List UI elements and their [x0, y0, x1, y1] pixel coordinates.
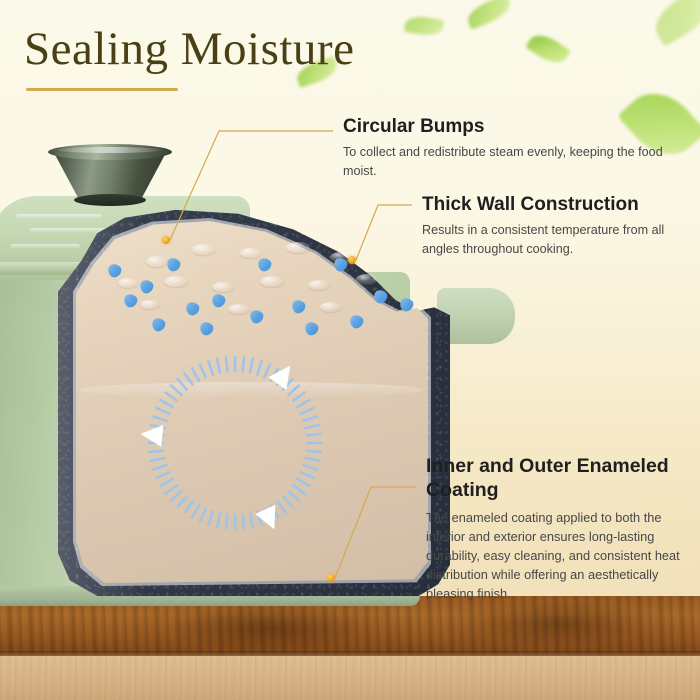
- ring-tick: [156, 408, 169, 414]
- callout-body: To collect and redistribute steam evenly…: [343, 143, 673, 180]
- ring-tick: [305, 458, 319, 461]
- ring-tick: [250, 359, 253, 373]
- ring-tick: [177, 379, 186, 389]
- leader-wall-dot: [348, 256, 356, 264]
- leaf-icon: [404, 14, 445, 38]
- infographic-canvas: Sealing Moisture Circular Bumps To colle…: [0, 0, 700, 700]
- ring-tick: [217, 513, 220, 527]
- leader-bumps-dot: [162, 236, 170, 244]
- callout-heading: Inner and Outer Enameled Coating: [426, 455, 691, 503]
- circular-bump: [260, 276, 284, 287]
- callout-heading: Circular Bumps: [343, 115, 673, 138]
- ring-tick: [226, 515, 227, 529]
- callout-body: The enameled coating applied to both the…: [426, 508, 691, 604]
- leaf-icon: [525, 29, 570, 70]
- ring-tick: [184, 373, 192, 384]
- ring-tick: [161, 479, 173, 486]
- leaf-icon: [648, 0, 700, 47]
- ring-tick: [200, 509, 206, 522]
- pot-lid-knob-highlight: [58, 147, 162, 153]
- ring-tick: [303, 416, 316, 420]
- ring-tick: [177, 497, 186, 507]
- ring-tick: [289, 491, 299, 500]
- ring-tick: [161, 400, 173, 407]
- circular-bump: [192, 244, 216, 255]
- circular-bump: [240, 248, 262, 258]
- ring-tick: [307, 451, 321, 452]
- ring-tick: [171, 385, 181, 394]
- ring-tick: [301, 408, 314, 414]
- leaf-icon: [464, 0, 514, 30]
- ring-tick: [226, 357, 227, 371]
- ring-tick: [171, 491, 181, 500]
- leader-wall: [356, 205, 412, 260]
- ring-tick: [208, 511, 212, 524]
- ring-tick: [165, 392, 176, 400]
- pot-lid-knob-base: [74, 194, 146, 206]
- ring-tick: [303, 465, 316, 469]
- callout-thick-wall: Thick Wall Construction Results in a con…: [422, 193, 690, 258]
- title-underline: [26, 88, 178, 91]
- ring-tick: [153, 416, 166, 420]
- ring-tick: [289, 385, 299, 394]
- circular-bump: [356, 274, 378, 284]
- ring-tick: [257, 361, 261, 374]
- callout-heading: Thick Wall Construction: [422, 193, 690, 216]
- ring-tick: [305, 425, 319, 428]
- lid-ridge: [16, 214, 102, 219]
- circular-bump: [118, 278, 138, 288]
- ring-tick: [283, 497, 292, 507]
- ring-tick: [200, 364, 206, 377]
- ring-tick: [192, 369, 199, 381]
- ring-tick: [149, 451, 163, 452]
- wood-floor: [0, 654, 700, 700]
- circular-bump: [146, 256, 168, 267]
- ring-tick: [243, 357, 244, 371]
- ring-tick: [165, 485, 176, 493]
- circular-bump: [140, 300, 160, 309]
- ring-tick: [297, 479, 309, 486]
- ring-tick: [184, 501, 192, 512]
- ring-tick: [151, 458, 165, 461]
- circular-bump: [308, 280, 330, 290]
- ring-tick: [301, 472, 314, 478]
- callout-enameled-coating: Inner and Outer Enameled Coating The ena…: [426, 455, 691, 604]
- page-title: Sealing Moisture: [24, 22, 354, 76]
- callout-body: Results in a consistent temperature from…: [422, 221, 690, 258]
- ring-tick: [250, 513, 253, 527]
- lid-ridge: [10, 244, 80, 249]
- leader-enamel-dot: [327, 574, 335, 582]
- ring-tick: [277, 501, 285, 512]
- ring-tick: [243, 515, 244, 529]
- ring-tick: [293, 392, 304, 400]
- circular-bump: [320, 302, 342, 312]
- ring-tick: [208, 361, 212, 374]
- ring-tick: [153, 465, 166, 469]
- callout-circular-bumps: Circular Bumps To collect and redistribu…: [343, 115, 673, 180]
- ring-tick: [217, 359, 220, 373]
- ring-tick: [293, 485, 304, 493]
- ring-tick: [264, 364, 270, 377]
- circular-bump: [164, 276, 188, 287]
- ring-tick: [297, 400, 309, 407]
- ring-tick: [192, 505, 199, 517]
- circular-bump: [286, 242, 310, 253]
- ring-tick: [156, 472, 169, 478]
- circular-bump: [228, 304, 250, 314]
- steam-circulation-ring: [140, 348, 330, 538]
- circular-bump: [212, 282, 234, 292]
- ring-tick: [307, 434, 321, 435]
